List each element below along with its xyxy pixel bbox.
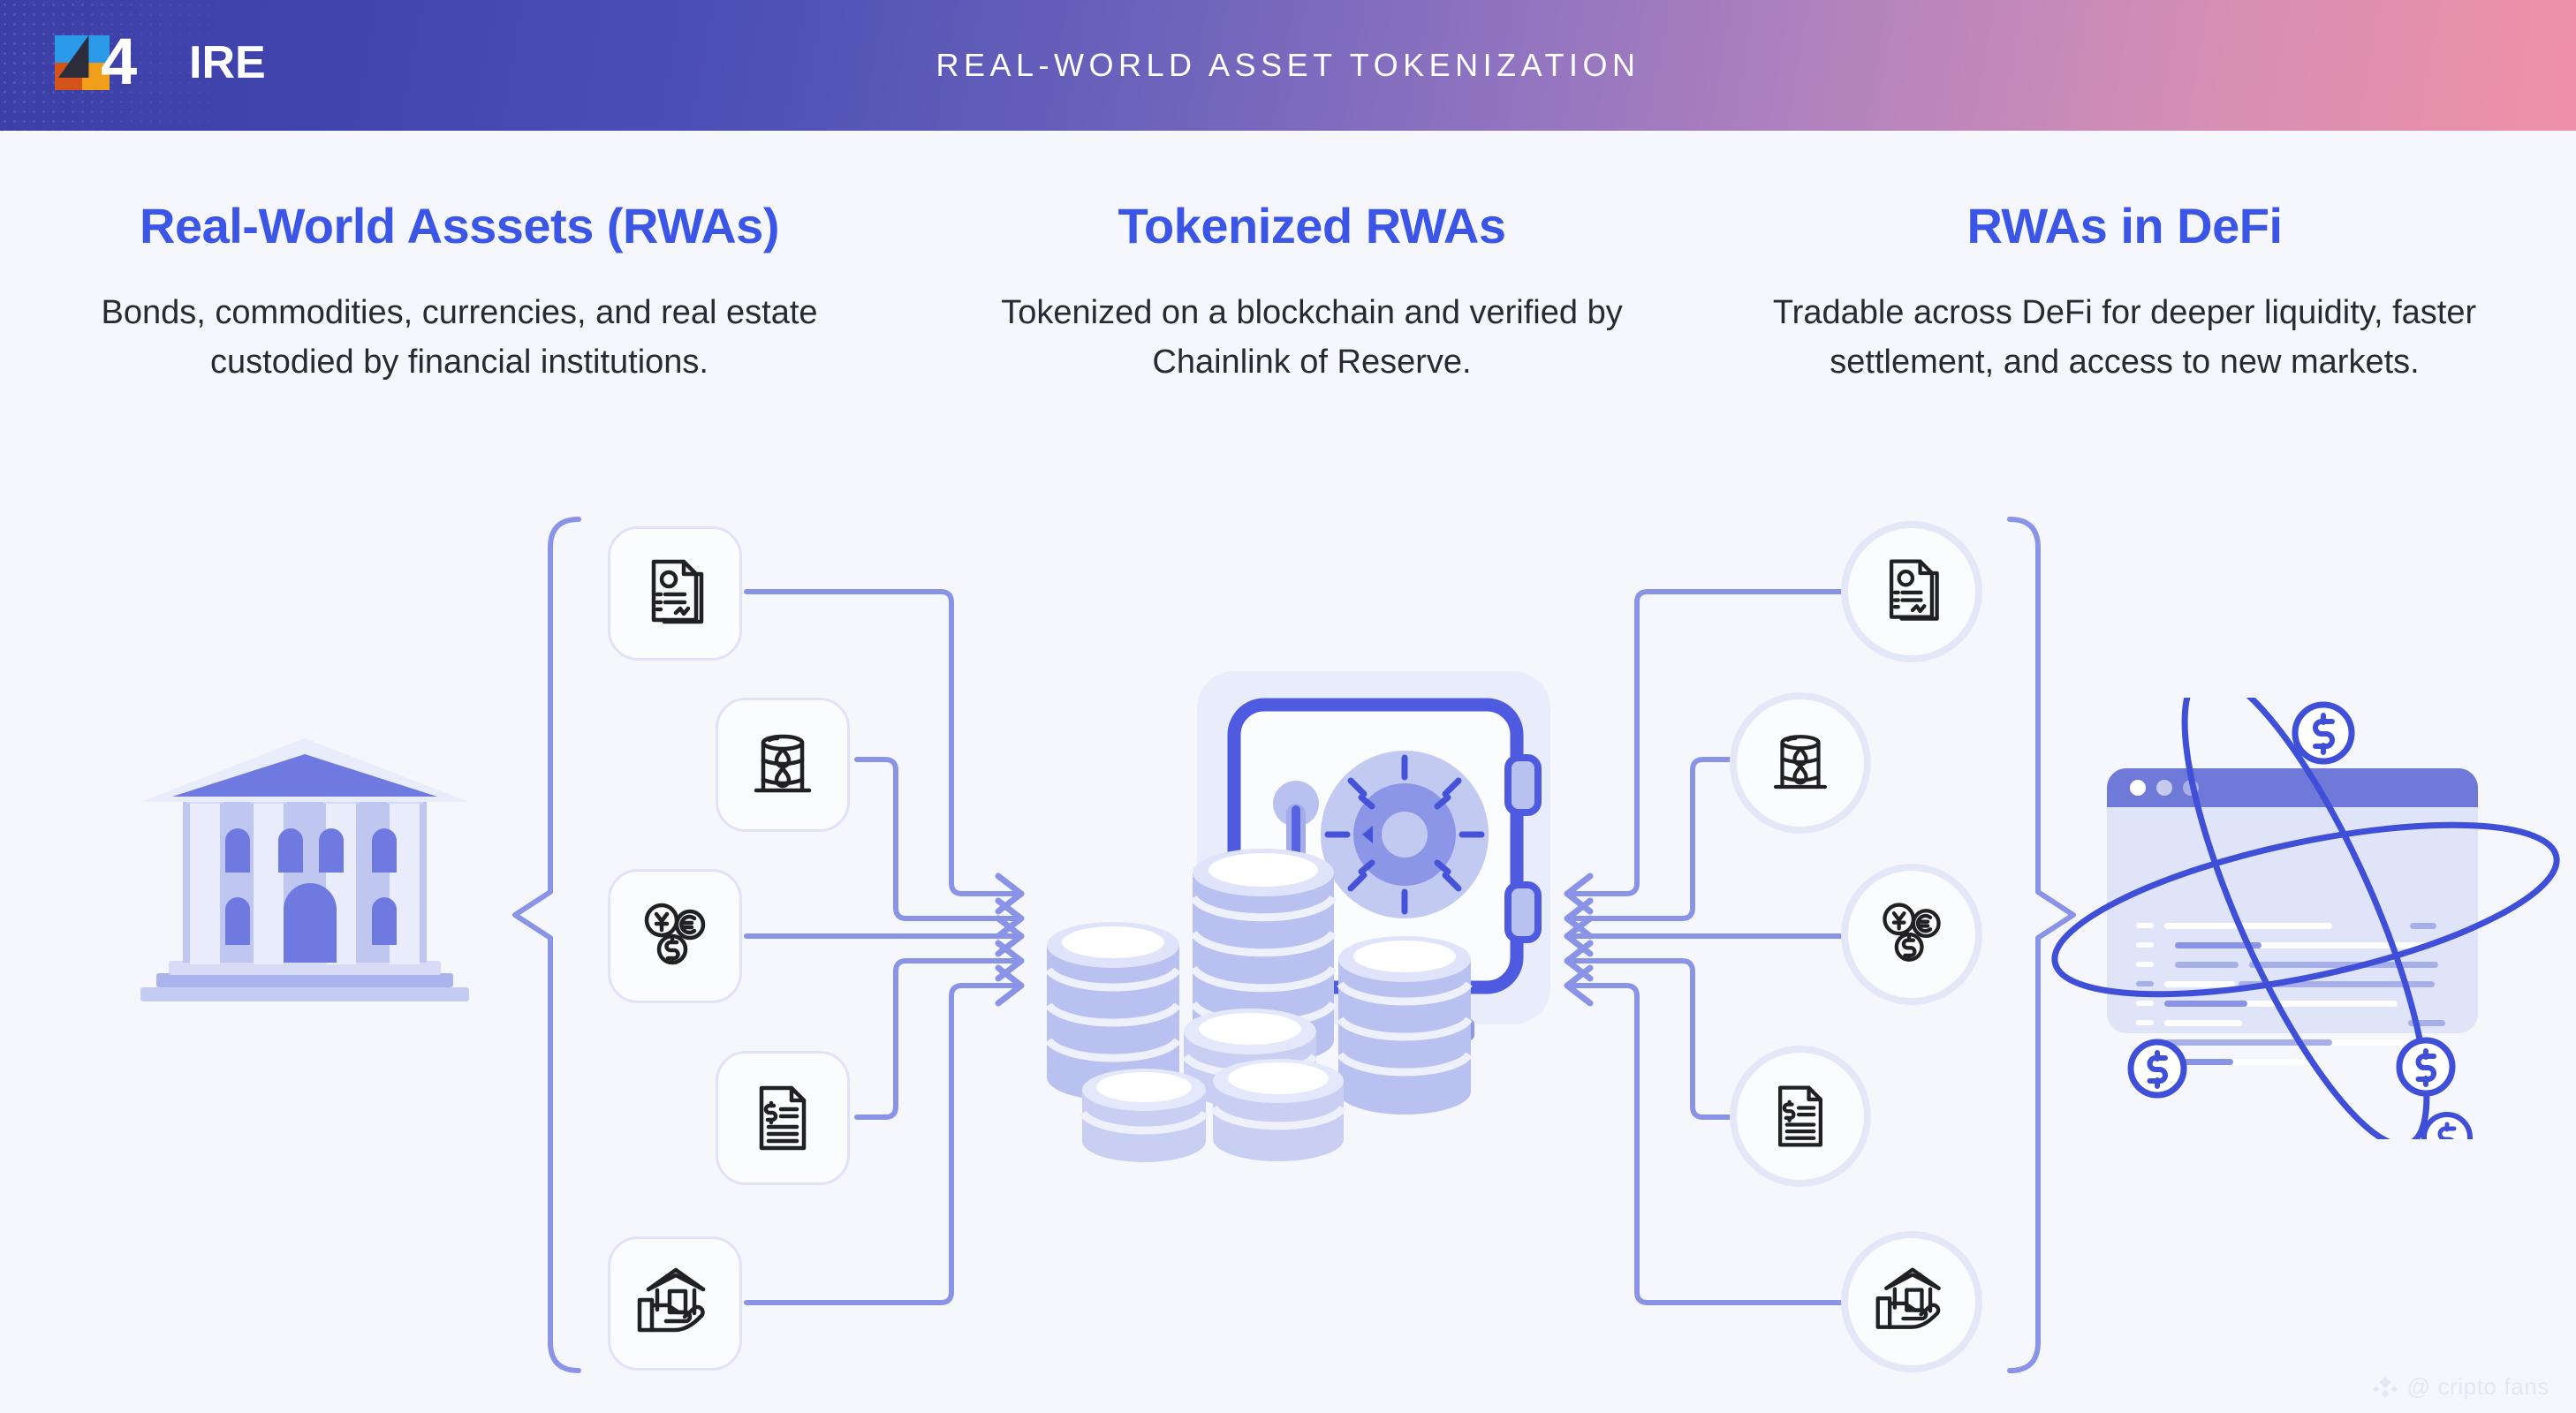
column-defi-body: Tradable across DeFi for deeper liquidit… <box>1762 288 2487 387</box>
column-defi-heading: RWAs in DeFi <box>1762 197 2487 254</box>
asset-card-commodity[interactable] <box>716 698 850 832</box>
dollar-token-icon <box>2131 1042 2184 1095</box>
safe-vault-illustration <box>1038 654 1586 1223</box>
oil-barrel-icon <box>744 726 822 804</box>
column-rwa-heading: Real-World Asssets (RWAs) <box>53 197 866 254</box>
bank-building-illustration <box>137 733 473 1020</box>
token-card-commodity[interactable] <box>1730 692 1871 834</box>
dollar-token-icon <box>2295 705 2352 761</box>
token-card-invoice[interactable] <box>1730 1046 1871 1187</box>
logo-digit: 4 <box>101 29 135 94</box>
oil-barrel-icon <box>1764 727 1837 799</box>
column-rwa: Real-World Asssets (RWAs) Bonds, commodi… <box>53 197 866 387</box>
4ire-logo-mark-icon: 4 <box>55 35 110 90</box>
watermark: @ cripto fans <box>2372 1373 2549 1401</box>
token-card-realestate[interactable] <box>1841 1231 1982 1372</box>
token-card-currency[interactable] <box>1841 864 1982 1005</box>
certificate-document-icon <box>636 555 714 632</box>
left-bracket <box>515 519 579 1371</box>
house-in-hand-icon <box>1873 1263 1951 1341</box>
column-tokenized-heading: Tokenized RWAs <box>950 197 1674 254</box>
financial-document-icon <box>1765 1081 1836 1152</box>
asset-card-bond[interactable] <box>608 526 742 661</box>
asset-card-currency[interactable] <box>608 869 742 1003</box>
asset-card-realestate[interactable] <box>608 1236 742 1371</box>
dollar-token-icon <box>2399 1040 2452 1093</box>
column-tokenized-body: Tokenized on a blockchain and verified b… <box>950 288 1674 387</box>
logo-wordmark: IRE <box>189 40 266 86</box>
watermark-text: @ cripto fans <box>2407 1373 2549 1401</box>
certificate-document-icon <box>1875 555 1949 629</box>
column-rwa-body: Bonds, commodities, currencies, and real… <box>53 288 866 387</box>
column-defi: RWAs in DeFi Tradable across DeFi for de… <box>1762 197 2487 387</box>
column-tokenized: Tokenized RWAs Tokenized on a blockchain… <box>950 197 1674 387</box>
diamond-logo-icon <box>2372 1374 2398 1401</box>
page-header: 4 IRE REAL-WORLD ASSET TOKENIZATION <box>0 0 2576 131</box>
diagram-stage <box>0 477 2576 1413</box>
currency-coins-icon <box>1874 896 1950 972</box>
column-headings: Real-World Asssets (RWAs) Bonds, commodi… <box>0 131 2576 493</box>
house-in-hand-icon <box>634 1263 716 1344</box>
currency-coins-icon <box>635 896 715 976</box>
asset-card-invoice[interactable] <box>716 1051 850 1185</box>
page-title: REAL-WORLD ASSET TOKENIZATION <box>0 47 2576 84</box>
dollar-token-icon <box>2424 1115 2470 1139</box>
brand-logo[interactable]: 4 IRE <box>55 35 266 90</box>
defi-browser-window-illustration <box>2041 698 2571 1144</box>
token-card-bond[interactable] <box>1841 521 1982 662</box>
financial-document-icon <box>746 1081 820 1155</box>
